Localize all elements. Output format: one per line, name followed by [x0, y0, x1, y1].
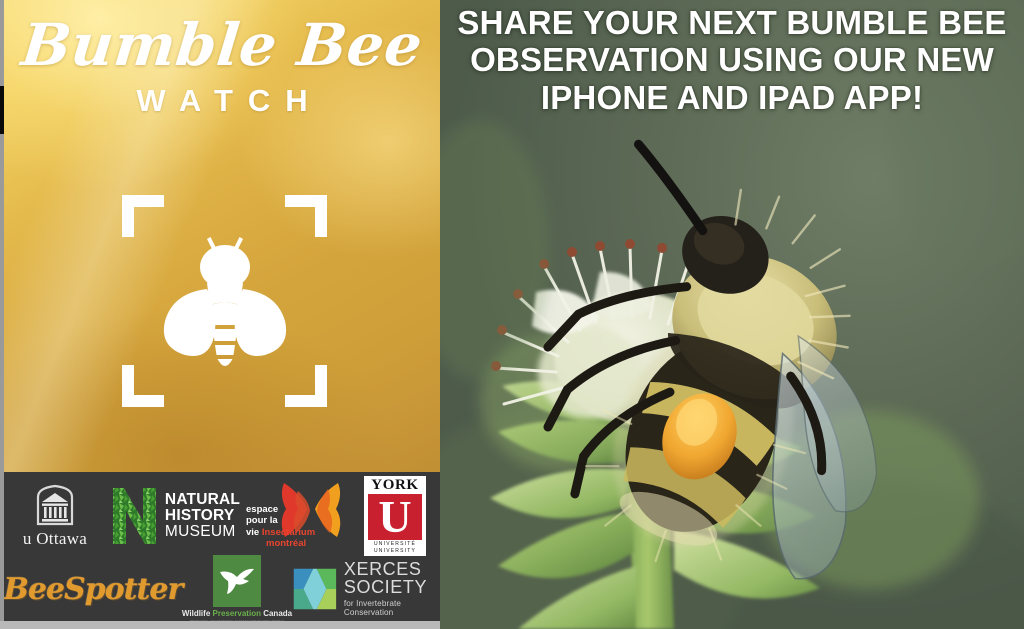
espace-line-3-red: Insectarium — [262, 527, 315, 538]
partner-logo-row-2: BeeSpotter Wildlife Preservation Canada … — [4, 558, 440, 620]
partner-logo-xerces-society[interactable]: XERCES SOCIETY for Invertebrate Conserva… — [292, 561, 440, 617]
uottawa-crest-icon — [33, 484, 77, 526]
espace-line-1: espace — [246, 504, 278, 515]
partner-logo-espace-pour-la-vie[interactable]: espace pour la vie Insectarium montréal — [244, 479, 350, 553]
wpc-label: Wildlife Preservation Canada — [182, 609, 292, 618]
nhm-leafy-n-icon — [110, 485, 160, 547]
partner-logo-natural-history-museum[interactable]: NATURAL HISTORY MUSEUM — [106, 485, 244, 547]
nhm-line-2: HISTORY — [165, 508, 240, 524]
gold-brand-panel: Bumble Bee WATCH — [4, 0, 440, 472]
wpc-word-2: Preservation — [213, 609, 261, 618]
brand-script-title: Bumble Bee — [1, 16, 443, 75]
espace-line-4-red: montréal — [266, 538, 306, 549]
brand-wordmark: Bumble Bee WATCH — [4, 16, 440, 116]
espace-line-3-white: vie — [246, 527, 259, 538]
uottawa-label: u Ottawa — [23, 529, 87, 549]
york-letter-u: U — [368, 494, 422, 540]
espace-line-2: pour la — [246, 515, 278, 526]
york-bottom-line-1: UNIVERSITÉ — [374, 541, 416, 548]
york-bottom-line-2: UNIVERSITY — [374, 548, 416, 555]
beespotter-wordmark-icon: BeeSpotter — [4, 572, 183, 607]
wpc-word-1: Wildlife — [182, 609, 210, 618]
bumble-bee-watch-poster: Bumble Bee WATCH — [0, 0, 1024, 629]
xerces-label: XERCES SOCIETY for Invertebrate Conserva… — [344, 561, 440, 617]
nhm-label: NATURAL HISTORY MUSEUM — [165, 492, 240, 540]
partner-logo-row-1: u Ottawa NATURAL — [4, 476, 440, 556]
bee-silhouette-icon — [145, 221, 305, 381]
nhm-line-3: MUSEUM — [165, 524, 240, 540]
bumble-bee-photo: SHARE YOUR NEXT BUMBLE BEE OBSERVATION U… — [440, 0, 1024, 629]
page-title: SHARE YOUR NEXT BUMBLE BEE OBSERVATION U… — [440, 4, 1024, 116]
york-bottom-label: UNIVERSITÉ UNIVERSITY — [374, 541, 416, 556]
partner-logo-uottawa[interactable]: u Ottawa — [4, 484, 106, 549]
xerces-butterfly-x-icon — [292, 564, 338, 614]
york-u-icon: YORK U UNIVERSITÉ UNIVERSITY — [364, 476, 426, 556]
bottom-edge-strip — [0, 621, 440, 629]
wpc-word-3: Canada — [263, 609, 292, 618]
xerces-line-2: SOCIETY — [344, 579, 440, 597]
wpc-bird-glyph-icon — [218, 566, 256, 596]
espace-label: espace pour la vie Insectarium montréal — [246, 504, 315, 549]
brand-sub-title: WATCH — [4, 85, 440, 116]
partner-logo-beespotter[interactable]: BeeSpotter — [4, 572, 182, 607]
wpc-bird-icon — [213, 555, 261, 607]
partner-logo-bar: u Ottawa NATURAL — [4, 472, 440, 621]
partner-logo-wildlife-preservation-canada[interactable]: Wildlife Preservation Canada PROTECTING … — [182, 555, 292, 623]
xerces-tagline: for Invertebrate Conservation — [344, 599, 440, 617]
xerces-line-1: XERCES — [344, 561, 440, 579]
left-edge-dark-segment — [0, 86, 4, 134]
partner-logo-york-university[interactable]: YORK U UNIVERSITÉ UNIVERSITY — [350, 476, 440, 556]
bee-in-viewfinder-icon — [122, 195, 327, 407]
nhm-line-1: NATURAL — [165, 492, 240, 508]
